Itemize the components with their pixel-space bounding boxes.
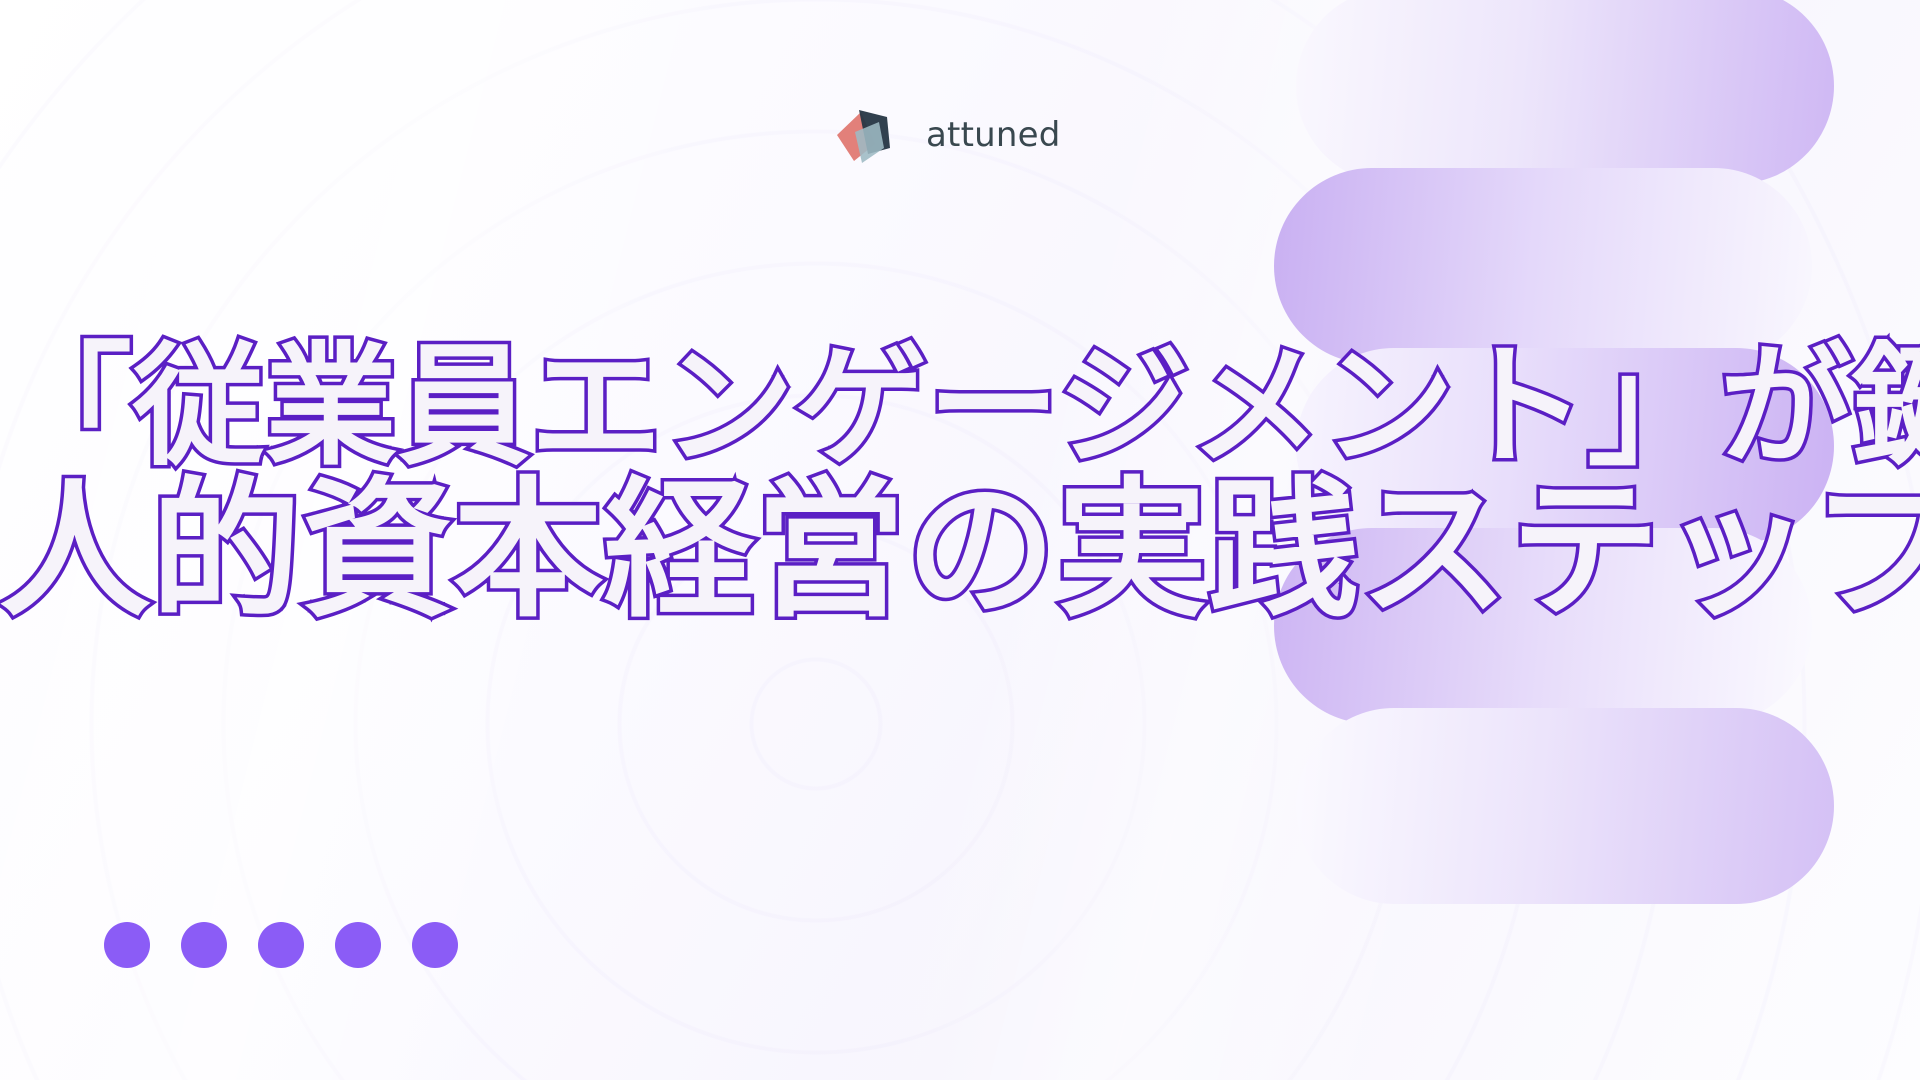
title-line-1: 「従業員エンゲージメント」が鍵！ [0, 338, 1920, 478]
decorative-dot-5 [412, 922, 458, 968]
title-line-2: 人的資本経営の実践ステップ [0, 472, 1920, 631]
decorative-dot-2 [181, 922, 227, 968]
brand-logo: attuned [834, 104, 1061, 166]
page-title: 「従業員エンゲージメント」が鍵！ 人的資本経営の実践ステップ [0, 338, 1920, 631]
decorative-dot-4 [335, 922, 381, 968]
brand-wordmark: attuned [926, 118, 1061, 152]
decorative-dot-1 [104, 922, 150, 968]
decorative-dot-row [104, 922, 458, 968]
attuned-prism-icon [834, 104, 912, 166]
decorative-dot-3 [258, 922, 304, 968]
title-slide: attuned 「従業員エンゲージメント」が鍵！ 人的資本経営の実践ステップ [0, 0, 1920, 1080]
